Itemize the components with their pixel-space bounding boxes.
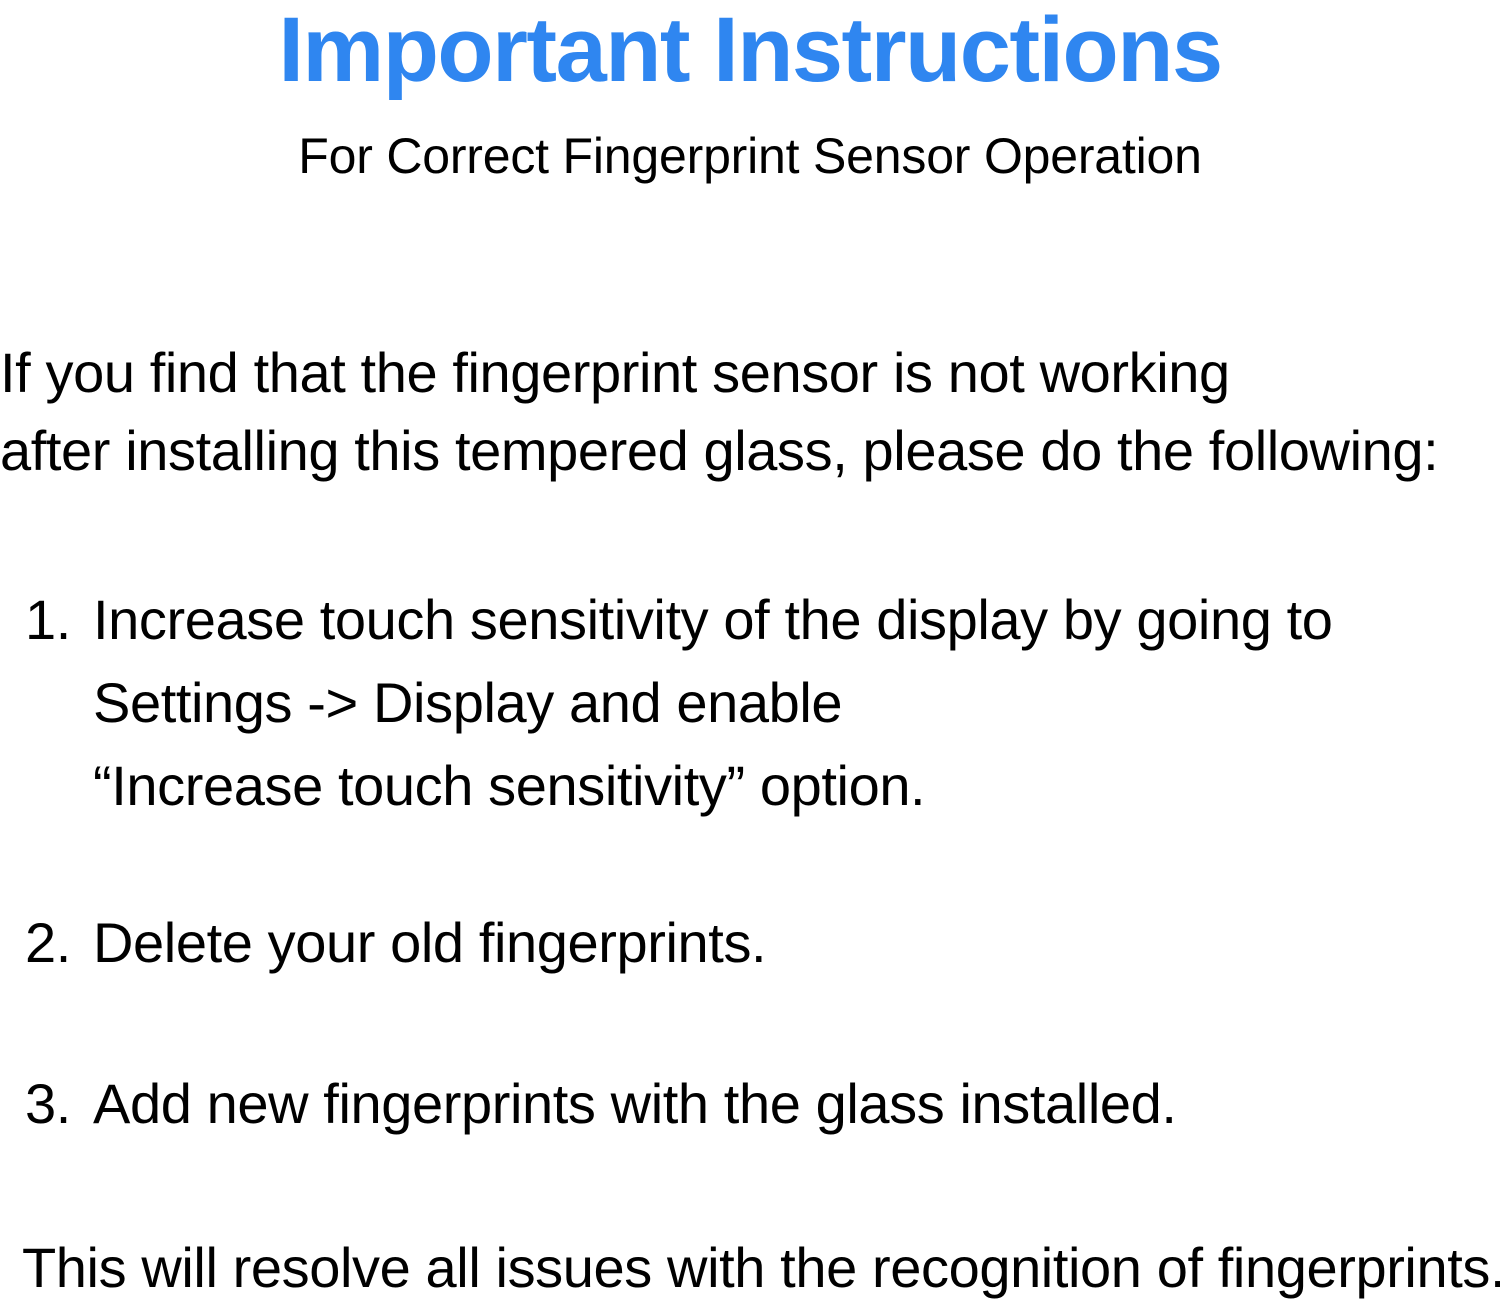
intro-paragraph: If you find that the fingerprint sensor …: [0, 334, 1500, 490]
step-1-line-1: Increase touch sensitivity of the displa…: [93, 578, 1500, 661]
step-3-line-1: Add new fingerprints with the glass inst…: [93, 1062, 1500, 1145]
intro-line-1: If you find that the fingerprint sensor …: [0, 334, 1500, 412]
step-2-number: 2.: [0, 901, 93, 984]
step-1-body: Increase touch sensitivity of the displa…: [93, 578, 1500, 827]
step-2-line-1: Delete your old fingerprints.: [93, 901, 1500, 984]
intro-line-2: after installing this tempered glass, pl…: [0, 412, 1500, 490]
step-2-body: Delete your old fingerprints.: [93, 901, 1500, 984]
page-subtitle: For Correct Fingerprint Sensor Operation: [0, 98, 1500, 186]
list-item-step-2: 2. Delete your old fingerprints.: [0, 901, 1500, 984]
page-title: Important Instructions: [0, 0, 1500, 98]
header: Important Instructions For Correct Finge…: [0, 0, 1500, 186]
step-1-line-2: Settings -> Display and enable: [93, 661, 1500, 744]
steps-list: 1. Increase touch sensitivity of the dis…: [0, 578, 1500, 1145]
closing-statement: This will resolve all issues with the re…: [22, 1233, 1500, 1303]
step-3-body: Add new fingerprints with the glass inst…: [93, 1062, 1500, 1145]
list-item-step-1: 1. Increase touch sensitivity of the dis…: [0, 578, 1500, 827]
instructions-sheet: Important Instructions For Correct Finge…: [0, 0, 1500, 1307]
step-1-line-3: “Increase touch sensitivity” option.: [93, 744, 1500, 827]
step-3-number: 3.: [0, 1062, 93, 1145]
list-item-step-3: 3. Add new fingerprints with the glass i…: [0, 1062, 1500, 1145]
step-1-number: 1.: [0, 578, 93, 661]
